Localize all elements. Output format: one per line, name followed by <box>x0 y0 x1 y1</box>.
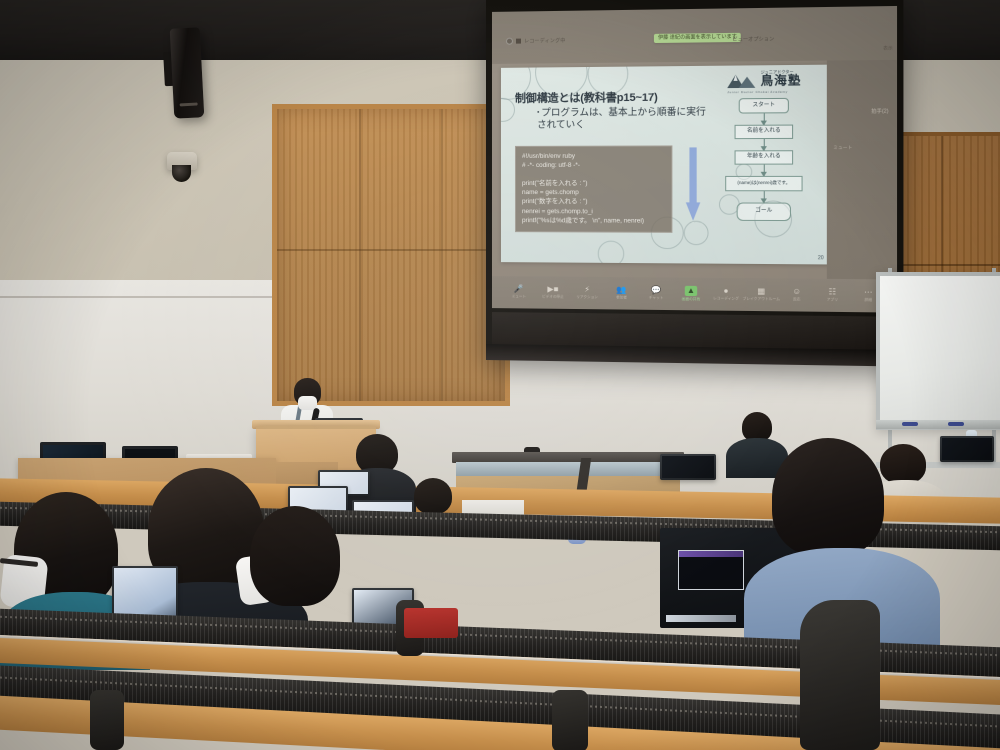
student-right-longhair-head <box>772 438 884 556</box>
zoom-toolbar[interactable]: 🎤 ミュート ▶■ ビデオの停止 ⚡ リアクション 👥 参加者 💬 チ <box>492 276 897 313</box>
zoom-reactions-alt-label: 反応 <box>793 297 801 302</box>
seat-bracket <box>90 690 124 750</box>
zoom-reactions-alt-button[interactable]: ☺ 反応 <box>781 288 813 303</box>
zoom-mute-button[interactable]: 🎤 ミュート <box>504 285 534 299</box>
zoom-top-bar: レコーディング中 伊藤 達紀の画面を表示しています ビューオプション 表示 <box>492 6 897 64</box>
zoom-video-button[interactable]: ▶■ ビデオの停止 <box>538 285 568 299</box>
reaction-icon: ⚡ <box>584 286 590 294</box>
flow-arrow-icon <box>763 139 764 150</box>
topbar-corner-label[interactable]: 表示 <box>883 45 893 51</box>
participant-reaction-label: 拍手(2) <box>871 108 888 115</box>
slide-bullet-text: プログラムは、基本上から順番に実行されていく <box>537 107 706 131</box>
record-icon: ● <box>723 287 728 295</box>
flow-node-age-input: 年齢を入れる <box>735 150 794 164</box>
logo-romaji: Junior Doctor Chokai Academy <box>727 90 788 95</box>
flow-node-start: スタート <box>739 98 789 114</box>
slide-code-block: #!/usr/bin/env ruby # -*- coding: utf-8 … <box>515 145 672 232</box>
lecture-hall-photo: レコーディング中 伊藤 達紀の画面を表示しています ビューオプション 表示 制御… <box>0 0 1000 750</box>
breakout-icon: ▦ <box>757 287 765 295</box>
zoom-chat-label: チャット <box>649 296 664 301</box>
microphone-icon: 🎤 <box>514 285 524 293</box>
stop-square-icon <box>516 39 521 44</box>
zoom-apps-button[interactable]: ☷ アプリ <box>817 288 849 303</box>
flow-arrow-icon <box>763 191 764 202</box>
slide-page-number: 20 <box>818 255 824 261</box>
mobile-whiteboard <box>876 272 1000 430</box>
zoom-apps-label: アプリ <box>827 297 838 302</box>
participants-icon: 👥 <box>616 286 626 294</box>
zoom-share-label: 画面の共有 <box>682 297 701 302</box>
zoom-more-label: 詳細 <box>864 298 872 303</box>
more-icon: ⋯ <box>864 288 873 296</box>
down-arrow-icon <box>686 147 700 220</box>
record-dot-icon <box>506 38 513 45</box>
presentation-slide: 制御構造とは(教科書p15~17) ▪プログラムは、基本上から順番に実行されてい… <box>501 65 830 265</box>
wall-speaker-icon <box>170 27 205 118</box>
flowchart: スタート 名前を入れる 年齢を入れる (name)は(nenrei)歳です。 ゴ… <box>725 98 802 221</box>
taskbar <box>666 615 736 622</box>
zoom-record-button[interactable]: ● レコーディング <box>710 287 741 302</box>
acoustic-wood-panel <box>272 104 510 406</box>
screen-share-badge: 伊藤 達紀の画面を表示しています <box>654 33 741 43</box>
terminal-window <box>678 550 744 590</box>
seat-bracket <box>552 690 588 750</box>
zoom-share-screen-button[interactable]: ▲ 画面の共有 <box>675 286 706 303</box>
student-center-mid-head <box>414 478 452 514</box>
whiteboard-marker-tray <box>876 420 1000 429</box>
slide-bullet: ▪プログラムは、基本上から順番に実行されていく <box>537 107 711 132</box>
recording-label: レコーディング中 <box>524 37 566 45</box>
flow-node-name-input: 名前を入れる <box>735 125 794 140</box>
video-camera-icon: ▶■ <box>547 286 558 294</box>
seat-back <box>800 600 880 750</box>
recording-indicator: レコーディング中 <box>506 37 566 45</box>
back-right-laptop <box>940 436 994 462</box>
zoom-video-label: ビデオの停止 <box>542 295 564 300</box>
mountain-icon <box>725 72 758 89</box>
projected-zoom-window: レコーディング中 伊藤 達紀の画面を表示しています ビューオプション 表示 制御… <box>492 6 897 313</box>
chat-icon: 💬 <box>651 287 661 295</box>
student-far-right-head <box>880 444 926 484</box>
flow-node-output: (name)は(nenrei)歳です。 <box>725 176 802 191</box>
school-logo: ジュニアドクター 鳥海塾 Junior Doctor Chokai Academ… <box>725 69 821 96</box>
share-screen-icon: ▲ <box>685 286 697 296</box>
slide-title: 制御構造とは(教科書p15~17) <box>515 89 658 106</box>
view-options-label[interactable]: ビューオプション <box>732 35 774 43</box>
projection-screen: レコーディング中 伊藤 達紀の画面を表示しています ビューオプション 表示 制御… <box>486 0 903 367</box>
zoom-reaction-label: リアクション <box>576 295 598 300</box>
zoom-chat-button[interactable]: 💬 チャット <box>641 286 672 301</box>
zoom-participants-button[interactable]: 👥 参加者 <box>606 286 637 300</box>
red-bag <box>404 608 458 638</box>
zoom-reaction-button[interactable]: ⚡ リアクション <box>572 286 602 300</box>
zoom-mute-label: ミュート <box>512 294 526 299</box>
flow-arrow-icon <box>763 165 764 176</box>
bullet-marker-icon: ▪ <box>537 109 539 115</box>
zoom-breakout-label: ブレイクアウトルーム <box>743 297 780 303</box>
student-laptop-back <box>660 454 716 480</box>
apps-icon: ☷ <box>829 288 837 296</box>
student-front-left-dark-head <box>250 506 340 606</box>
participant-mute-label: ミュート <box>833 145 852 151</box>
flow-node-goal: ゴール <box>737 202 791 221</box>
reactions-alt-icon: ☺ <box>792 288 801 296</box>
zoom-breakout-button[interactable]: ▦ ブレイクアウトルーム <box>746 287 777 302</box>
zoom-participant-pane[interactable]: 拍手(2) ミュート <box>827 60 897 280</box>
logo-name: 鳥海塾 <box>761 74 802 87</box>
blue-marker-icon <box>948 422 964 426</box>
zoom-participants-label: 参加者 <box>616 295 627 300</box>
flow-arrow-icon <box>763 113 764 124</box>
zoom-record-label: レコーディング <box>713 296 739 301</box>
blue-marker-icon <box>902 422 918 426</box>
